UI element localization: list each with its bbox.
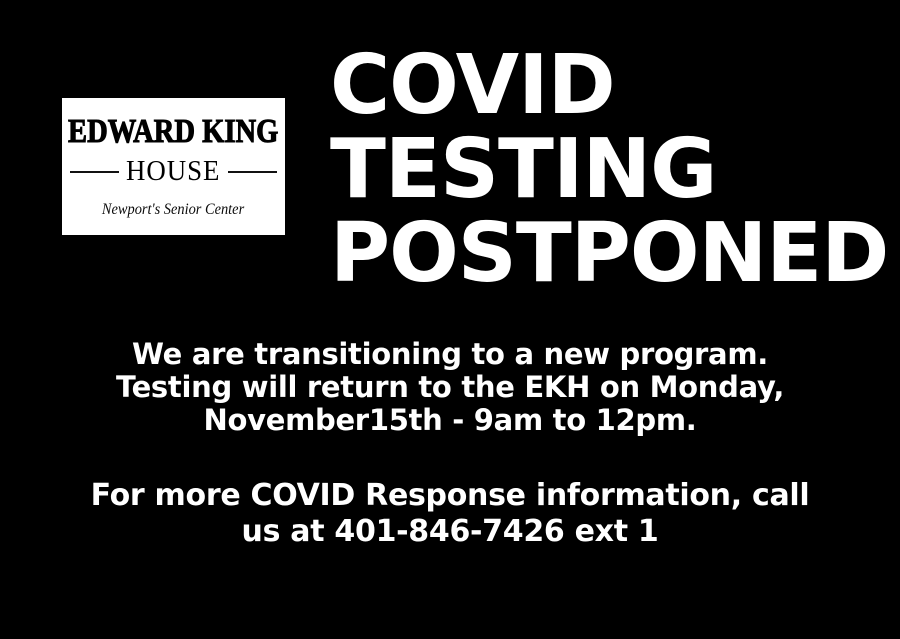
logo-rule-right	[228, 171, 277, 173]
headline-line-covid: COVID	[330, 44, 890, 128]
headline-line-postponed: POSTPONED	[330, 212, 890, 296]
body-copy-block: We are transitioning to a new program. T…	[0, 338, 900, 437]
body-line-1: We are transitioning to a new program.	[0, 338, 900, 371]
logo-tagline: Newport's Senior Center	[102, 202, 244, 218]
contact-phone-line: us at 401-846-7426 ext 1	[0, 514, 900, 550]
headline-line-testing: TESTING	[330, 128, 890, 212]
body-line-2: Testing will return to the EKH on Monday…	[0, 371, 900, 404]
logo-house-row: HOUSE	[70, 158, 277, 186]
contact-block: For more COVID Response information, cal…	[0, 478, 900, 550]
contact-line-1: For more COVID Response information, cal…	[0, 478, 900, 514]
edward-king-house-logo: EDWARD KING HOUSE Newport's Senior Cente…	[62, 98, 285, 235]
logo-house-word: HOUSE	[126, 158, 220, 186]
logo-organization-name: EDWARD KING	[68, 115, 278, 149]
headline-block: COVID TESTING POSTPONED	[330, 44, 890, 296]
logo-rule-left	[70, 171, 119, 173]
poster-canvas: EDWARD KING HOUSE Newport's Senior Cente…	[0, 0, 900, 639]
body-line-3: November15th - 9am to 12pm.	[0, 404, 900, 437]
